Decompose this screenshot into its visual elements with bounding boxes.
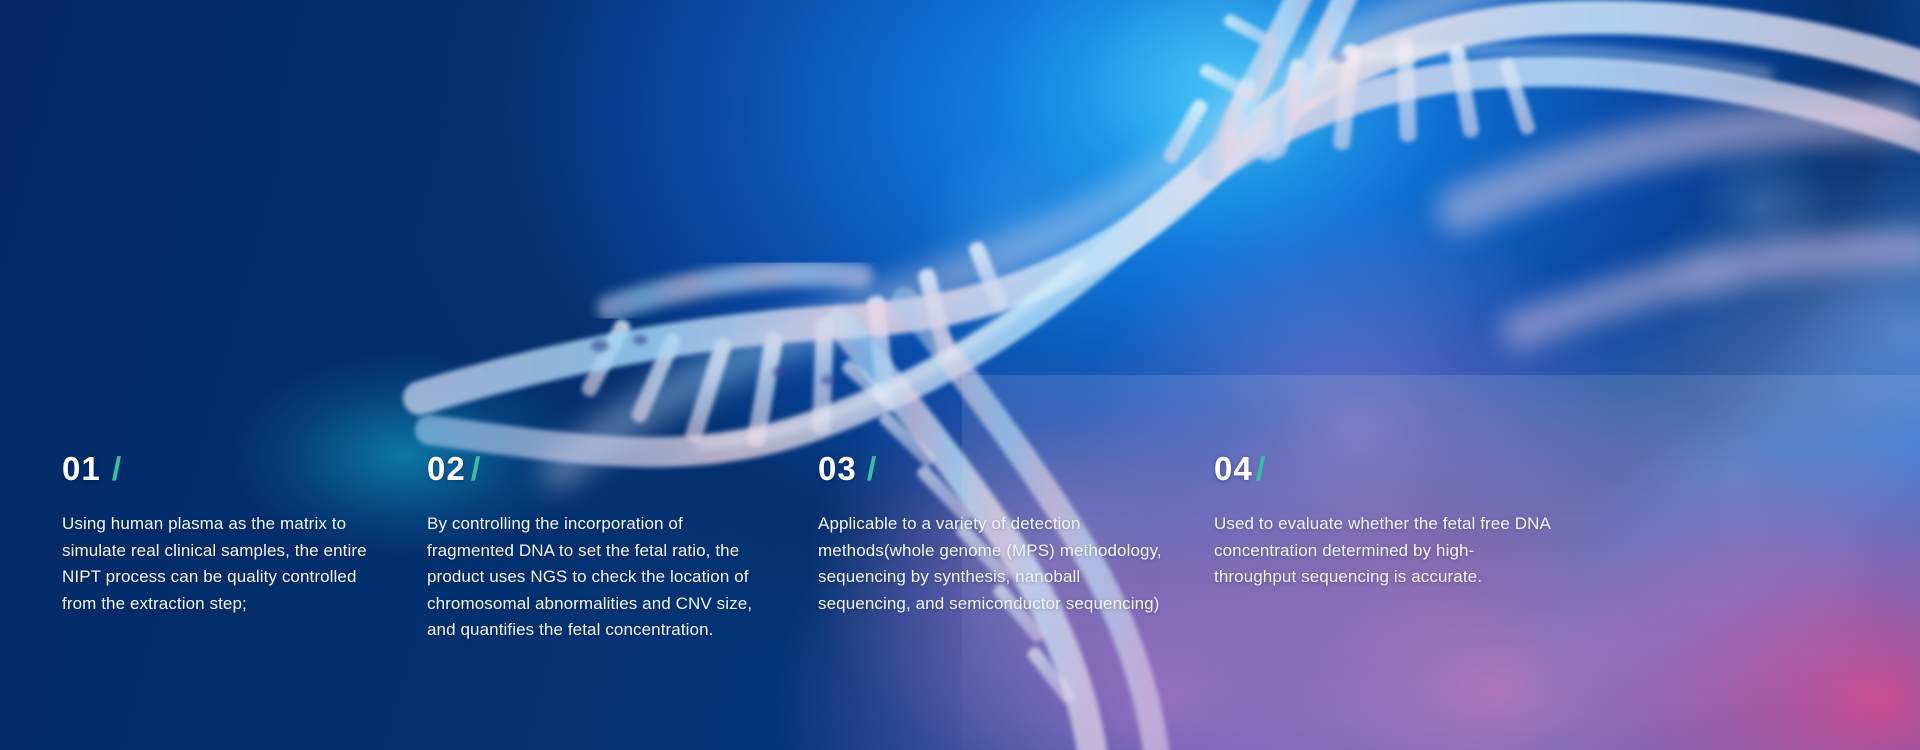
feature-number-row: 04 / xyxy=(1214,452,1554,485)
feature-item-03: 03 / Applicable to a variety of detectio… xyxy=(818,452,1168,617)
feature-description: Applicable to a variety of detection met… xyxy=(818,511,1168,617)
slash-accent-icon: / xyxy=(866,452,876,485)
feature-description: By controlling the incorporation of frag… xyxy=(427,511,767,644)
slash-accent-icon: / xyxy=(111,452,121,485)
feature-item-02: 02 / By controlling the incorporation of… xyxy=(427,452,767,644)
feature-number: 04 xyxy=(1214,452,1253,485)
feature-description: Used to evaluate whether the fetal free … xyxy=(1214,511,1554,591)
feature-number: 02 xyxy=(427,452,466,485)
feature-number-row: 03 / xyxy=(818,452,1168,485)
feature-number: 01 xyxy=(62,452,101,485)
slash-accent-icon: / xyxy=(1255,452,1265,485)
feature-number-row: 01 / xyxy=(62,452,392,485)
feature-item-04: 04 / Used to evaluate whether the fetal … xyxy=(1214,452,1554,591)
feature-number: 03 xyxy=(818,452,857,485)
hero-banner: 01 / Using human plasma as the matrix to… xyxy=(0,0,1920,750)
slash-accent-icon: / xyxy=(470,452,480,485)
feature-item-01: 01 / Using human plasma as the matrix to… xyxy=(62,452,392,617)
feature-description: Using human plasma as the matrix to simu… xyxy=(62,511,392,617)
feature-columns: 01 / Using human plasma as the matrix to… xyxy=(0,0,1920,750)
feature-number-row: 02 / xyxy=(427,452,767,485)
